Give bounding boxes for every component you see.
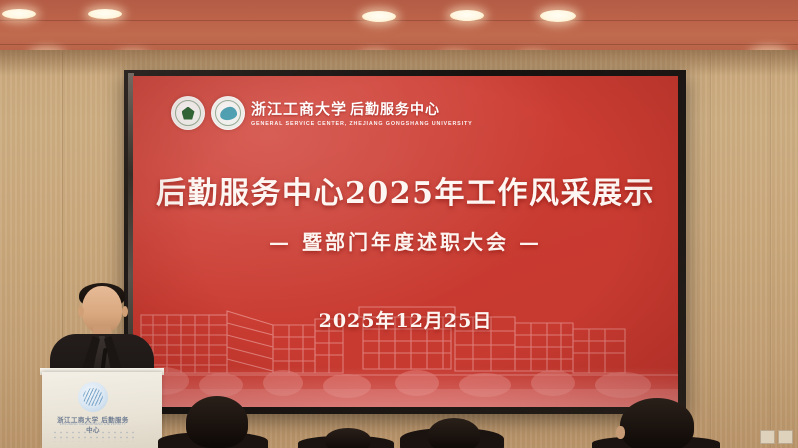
audience-head [428,418,480,448]
conference-hall-photo: 浙江工商大学 后勤服务中心 GENERAL SERVICE CENTER, ZH… [0,0,798,448]
wall-plate [760,430,775,444]
ceiling-light [450,10,484,21]
podium-dot-pattern [52,430,136,442]
speaker-ear [122,306,128,317]
screen-vignette [133,76,678,407]
ceiling-light [88,9,122,19]
audience-ear [616,426,625,439]
ceiling [0,0,798,50]
ceiling-light [2,9,36,19]
wall-plate [778,430,793,444]
audience-head [325,428,371,448]
ceiling-light [362,11,396,22]
audience-head [620,398,694,448]
podium-emblem-icon [78,382,108,412]
audience-head [186,396,248,448]
led-presentation-screen[interactable]: 浙江工商大学 后勤服务中心 GENERAL SERVICE CENTER, ZH… [133,76,678,407]
speaker-ear [78,306,84,317]
podium-english-text: ZHEJIANG GONGSHANG UNIVERSITY [48,422,138,426]
ceiling-light [540,10,576,22]
